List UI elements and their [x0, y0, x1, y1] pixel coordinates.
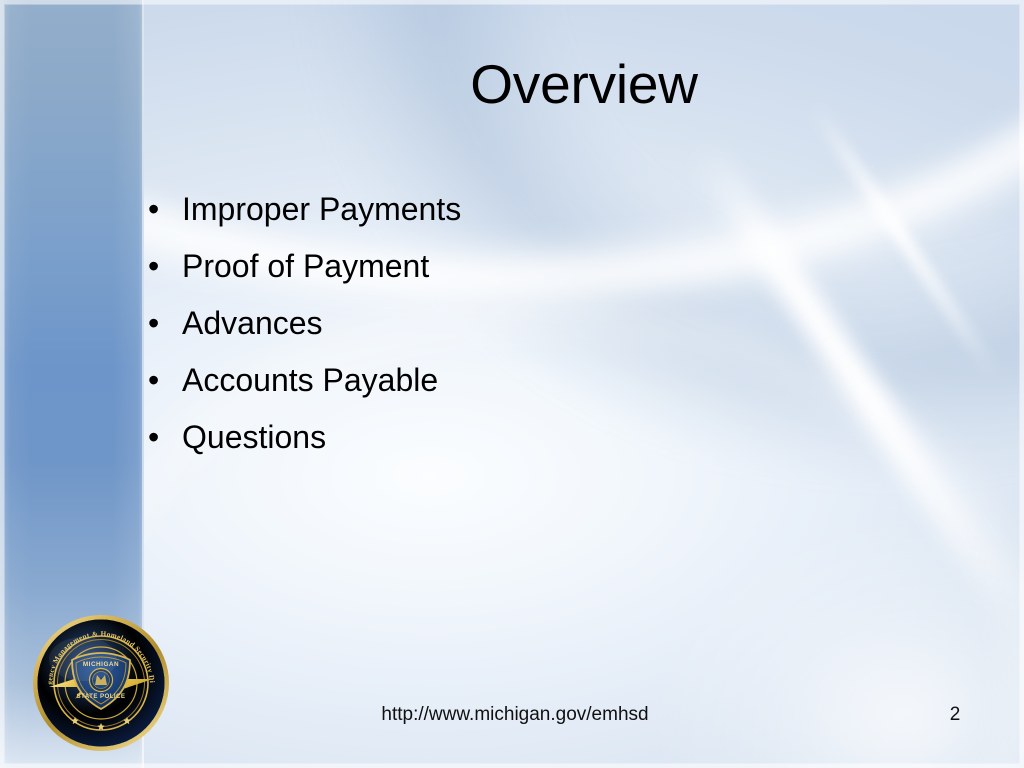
bullet-list: • Improper Payments • Proof of Payment •… [148, 186, 848, 471]
agency-seal-logo: Emergency Management & Homeland Security… [31, 613, 171, 753]
list-item: • Accounts Payable [148, 357, 848, 414]
seal-badge-bottom-text: STATE POLICE [77, 693, 126, 700]
bullet-point-icon: • [148, 357, 182, 404]
presentation-slide: Overview • Improper Payments • Proof of … [0, 0, 1024, 768]
page-number: 2 [910, 703, 1000, 727]
list-item-label: Advances [182, 300, 323, 347]
list-item-label: Accounts Payable [182, 357, 438, 404]
list-item: • Questions [148, 414, 848, 471]
list-item: • Advances [148, 300, 848, 357]
list-item-label: Proof of Payment [182, 243, 429, 290]
slide-title: Overview [144, 52, 1024, 116]
list-item: • Improper Payments [148, 186, 848, 243]
seal-highlight [49, 637, 117, 681]
list-item-label: Improper Payments [182, 186, 461, 233]
bullet-point-icon: • [148, 300, 182, 347]
footer-url-text: http://www.michigan.gov/emhsd [330, 703, 700, 727]
bullet-point-icon: • [148, 243, 182, 290]
list-item: • Proof of Payment [148, 243, 848, 300]
bullet-point-icon: • [148, 414, 182, 461]
michigan-state-police-seal-icon: Emergency Management & Homeland Security… [31, 613, 171, 753]
list-item-label: Questions [182, 414, 326, 461]
bullet-point-icon: • [148, 186, 182, 233]
